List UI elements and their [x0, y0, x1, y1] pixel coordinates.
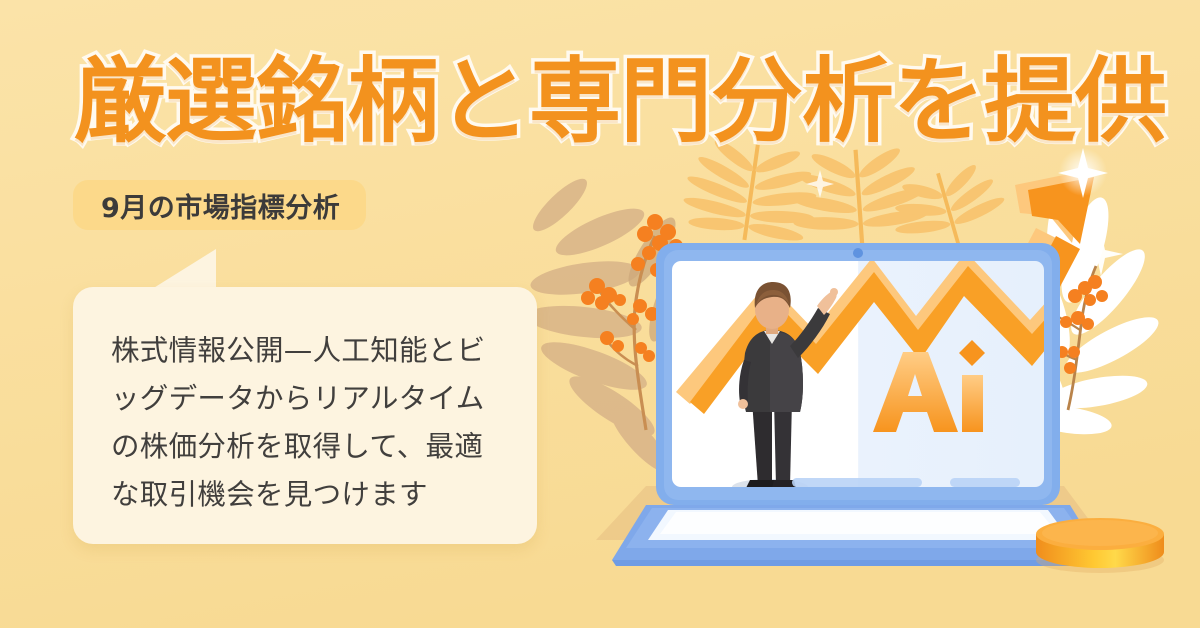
description-text: 株式情報公開—人工知能とビッグデータからリアルタイムの株価分析を取得して、最適な… [111, 327, 503, 519]
laptop-illustration [596, 243, 1104, 566]
status-badge: 9月の市場指標分析 [73, 180, 366, 230]
leaf-frond-tan [525, 172, 677, 479]
leaf-frond-tan-dark [621, 212, 695, 397]
growth-arrow-icon [943, 148, 1108, 425]
webcam-dot [853, 248, 863, 258]
sparkle-icon [1079, 232, 1123, 276]
chart-line-shadow [676, 252, 1048, 404]
businessman-figure [732, 282, 838, 495]
banner-canvas: 厳選銘柄と専門分析を提供 9月の市場指標分析 株式情報公開—人工知能とビッグデー… [0, 0, 1200, 628]
page-title: 厳選銘柄と専門分析を提供 [74, 52, 1166, 152]
berry-branch-right [1038, 266, 1108, 410]
description-card: 株式情報公開—人工知能とビッグデータからリアルタイムの株価分析を取得して、最適な… [73, 287, 537, 544]
chart-line [690, 266, 1050, 414]
speech-bubble-tail [152, 249, 216, 289]
ai-logo [873, 340, 985, 432]
berry-branch-left [581, 214, 683, 430]
leaf-frond-white [1008, 187, 1165, 439]
sparkle-icon [806, 170, 834, 198]
coin-icon [1036, 518, 1164, 573]
